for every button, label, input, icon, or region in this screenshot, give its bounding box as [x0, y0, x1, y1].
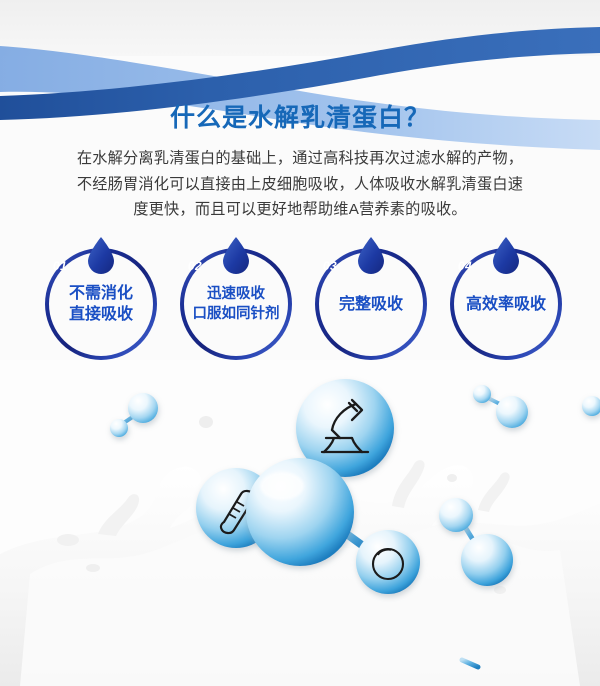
feature-circle-1[interactable]: 01 不需消化 直接吸收	[45, 248, 157, 360]
water-drop-badge-icon	[491, 237, 521, 275]
feature-number: 02	[180, 259, 210, 273]
page-title: 什么是水解乳清蛋白？	[0, 98, 600, 134]
feature-number: 04	[450, 259, 480, 273]
intro-paragraph: 在水解分离乳清蛋白的基础上，通过高科技再次过滤水解的产物， 不经肠胃消化可以直接…	[35, 146, 565, 223]
intro-line-3: 度更快，而且可以更好地帮助维A营养素的吸收。	[35, 197, 565, 223]
feature-label-line-1: 迅速吸收	[207, 284, 265, 304]
molecule-sphere-small	[439, 498, 473, 532]
feature-label-line-2: 直接吸收	[69, 304, 133, 325]
feature-label-line-1: 完整吸收	[339, 294, 403, 315]
intro-line-1: 在水解分离乳清蛋白的基础上，通过高科技再次过滤水解的产物，	[35, 146, 565, 172]
feature-number: 03	[315, 259, 345, 273]
product-detail-page: 什么是水解乳清蛋白？ 在水解分离乳清蛋白的基础上，通过高科技再次过滤水解的产物，…	[0, 0, 600, 686]
molecule-sphere-small	[110, 419, 128, 437]
molecule-sphere-small	[496, 396, 528, 428]
milk-splash-illustration	[0, 360, 600, 686]
molecule-sphere-medium	[461, 534, 513, 586]
feature-number: 01	[45, 259, 75, 273]
molecule-sphere-small	[473, 385, 491, 403]
feature-circle-row: 01 不需消化 直接吸收 02 迅速吸收	[0, 248, 600, 360]
feature-label-line-1: 不需消化	[69, 283, 133, 304]
intro-line-2: 不经肠胃消化可以直接由上皮细胞吸收，人体吸收水解乳清蛋白速	[35, 172, 565, 198]
feature-label-line-2: 口服如同针剂	[193, 304, 280, 324]
molecule-sphere-center	[246, 458, 354, 566]
water-drop-badge-icon	[86, 237, 116, 275]
water-drop-badge-icon	[356, 237, 386, 275]
feature-circle-4[interactable]: 04 高效率吸收	[450, 248, 562, 360]
feature-circle-3[interactable]: 03 完整吸收	[315, 248, 427, 360]
molecule-sphere-petri	[356, 530, 420, 594]
water-drop-badge-icon	[221, 237, 251, 275]
feature-label-line-1: 高效率吸收	[466, 294, 546, 315]
feature-circle-2[interactable]: 02 迅速吸收 口服如同针剂	[180, 248, 292, 360]
molecule-sphere-small	[128, 393, 158, 423]
